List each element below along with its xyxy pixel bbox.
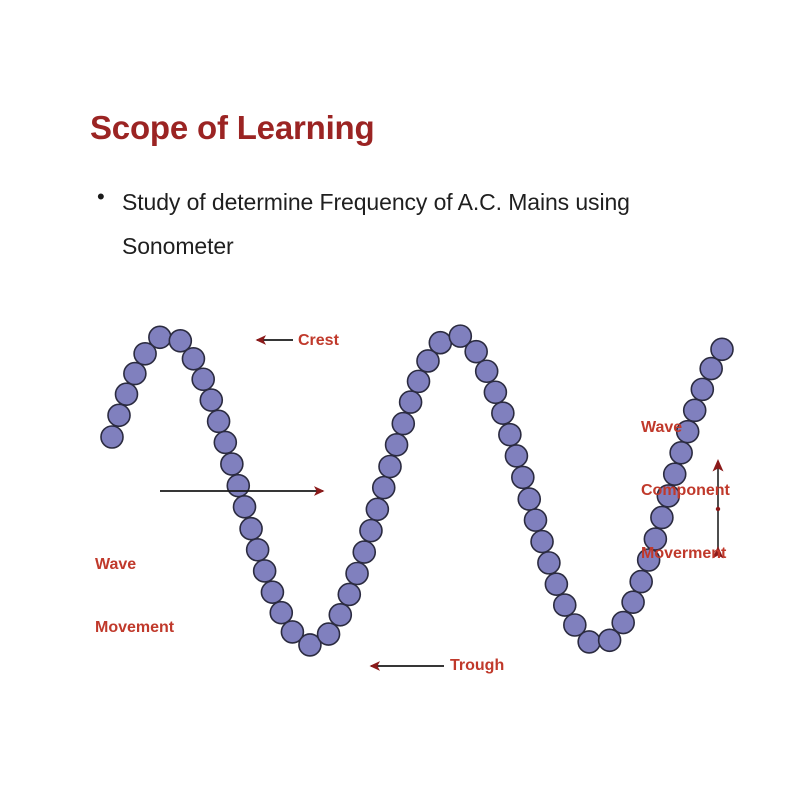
wave-bead (518, 488, 540, 510)
wave-bead (373, 477, 395, 499)
wave-bead (392, 413, 414, 435)
wave-bead (484, 381, 506, 403)
wave-bead (254, 560, 276, 582)
wave-bead (200, 389, 222, 411)
wave-bead (366, 498, 388, 520)
wave-bead (353, 541, 375, 563)
wave-bead (360, 520, 382, 542)
wave-bead (329, 604, 351, 626)
wave-bead (476, 360, 498, 382)
wave-bead (149, 326, 171, 348)
wave-bead (499, 424, 521, 446)
wave-bead (711, 338, 733, 360)
wave-bead (531, 531, 553, 553)
wave-bead (227, 475, 249, 497)
wave-bead (234, 496, 256, 518)
wave-bead (270, 602, 292, 624)
wave-bead (408, 370, 430, 392)
wave-bead (214, 431, 236, 453)
wave-bead (101, 426, 123, 448)
wave-bead (318, 623, 340, 645)
wave-bead (578, 631, 600, 653)
wave-movement-label: Wave Movement (95, 512, 174, 680)
transverse-wave-diagram: Crest Trough Wave Movement Wave Componen… (0, 0, 800, 800)
wave-bead (124, 363, 146, 385)
crest-label: Crest (298, 330, 339, 351)
wave-bead (612, 612, 634, 634)
wave-bead (182, 348, 204, 370)
wave-bead (554, 594, 576, 616)
wave-bead (379, 456, 401, 478)
wave-bead (208, 410, 230, 432)
wave-component-movement-label: Wave Component Moverment (641, 375, 730, 606)
wave-movement-label-line1: Wave (95, 554, 174, 575)
wave-bead (492, 402, 514, 424)
wave-movement-label-line2: Movement (95, 617, 174, 638)
wave-component-label-line2: Component (641, 480, 730, 501)
slide-canvas: Scope of Learning • Study of determine F… (0, 0, 800, 800)
wave-bead (261, 581, 283, 603)
wave-bead (247, 539, 269, 561)
wave-bead (465, 341, 487, 363)
wave-bead (192, 368, 214, 390)
wave-bead (346, 563, 368, 585)
wave-component-label-line3: Moverment (641, 543, 730, 564)
wave-bead (429, 332, 451, 354)
wave-bead (538, 552, 560, 574)
wave-bead (221, 453, 243, 475)
wave-bead (505, 445, 527, 467)
wave-bead (524, 509, 546, 531)
wave-bead (386, 434, 408, 456)
wave-bead (115, 383, 137, 405)
trough-label: Trough (450, 655, 504, 676)
wave-bead (240, 518, 262, 540)
wave-bead (512, 466, 534, 488)
wave-bead (400, 391, 422, 413)
wave-bead (338, 583, 360, 605)
wave-component-label-line1: Wave (641, 417, 730, 438)
wave-bead (108, 404, 130, 426)
wave-bead (545, 573, 567, 595)
